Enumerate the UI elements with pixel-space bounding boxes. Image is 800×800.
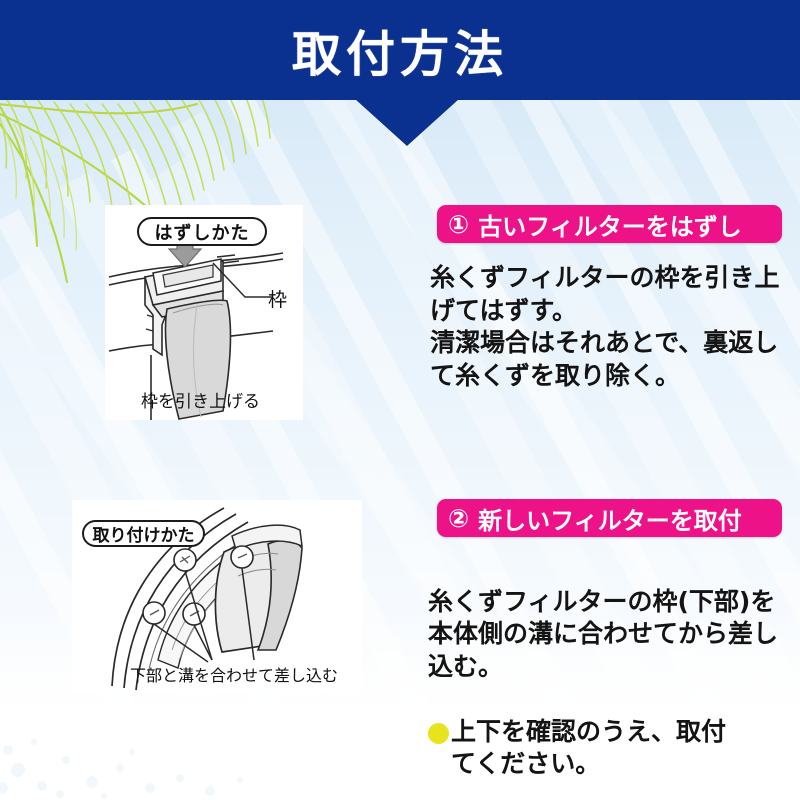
pill-label-remove-method: はずしかた: [137, 217, 267, 246]
step-1-banner: ① 古いフィルターをはずし: [437, 205, 782, 243]
header-notch-arrow: [355, 99, 459, 146]
step-2-bullet-text: 上下を確認のうえ、取付 てください。: [451, 716, 726, 781]
yellow-bullet-icon: [428, 723, 449, 744]
illustration-panel-remove: はずしかた 枠 枠を引き上げる: [105, 205, 303, 420]
page-title: 取付方法: [0, 0, 800, 100]
step-2-number: ②: [448, 506, 469, 531]
caption-attach: 下部と溝を合わせて差し込む: [130, 662, 338, 686]
step-2-title: 新しいフィルターを取付: [478, 501, 742, 536]
pill-label-attach-method: 取り付けかた: [82, 520, 205, 547]
step-1-number: ①: [448, 212, 469, 237]
step-2-banner: ② 新しいフィルターを取付: [437, 499, 782, 537]
step-2-body-main: 糸くずフィルターの枠(下部)を 本体側の溝に合わせてから差し 込む。: [428, 586, 783, 684]
illustration-panel-attach: 取り付けかた 下部と溝を合わせて差し込む: [72, 500, 362, 692]
step-2-body-text: 糸くずフィルターの枠(下部)を 本体側の溝に合わせてから差し 込む。 上下を確認…: [428, 553, 783, 800]
part-label-frame: 枠: [268, 285, 287, 312]
step-2-bullet-note: 上下を確認のうえ、取付 てください。: [428, 716, 783, 781]
infographic-page: 取付方法: [0, 0, 800, 800]
step-1-title: 古いフィルターをはずし: [478, 207, 742, 242]
caption-remove: 枠を引き上げる: [141, 387, 260, 412]
step-1-body-text: 糸くずフィルターの枠を引き上 げてはずす。 清潔場合はそれあとで、裏返し て糸く…: [430, 262, 785, 392]
